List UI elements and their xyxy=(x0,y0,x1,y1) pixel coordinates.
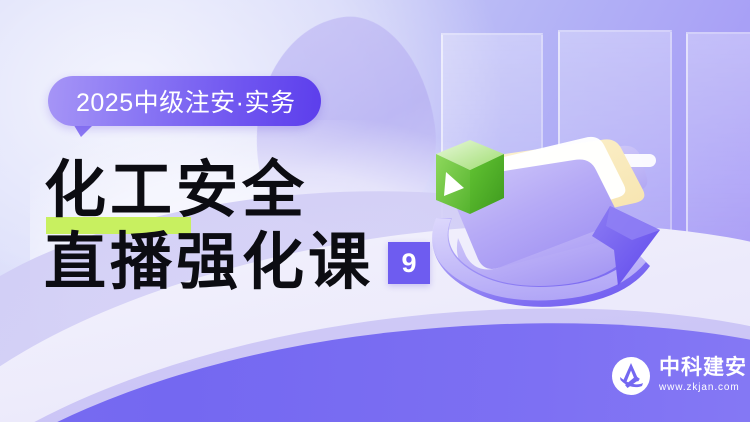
brand-logo-lockup[interactable]: 中科建安 www.zkjan.com xyxy=(611,356,747,396)
brand-name: 中科建安 xyxy=(659,357,747,379)
zkjan-circle-logo-icon xyxy=(611,356,651,396)
course-category-badge: 2025中级注安·实务 xyxy=(48,76,321,126)
brand-logo-text: 中科建安 www.zkjan.com xyxy=(659,357,747,395)
headline-line-1-wrapper: 化工安全 xyxy=(44,155,430,227)
episode-number-badge: 9 xyxy=(388,242,430,284)
headline-line-2: 直播强化课 xyxy=(44,227,374,299)
course-illustration xyxy=(418,110,718,360)
headline-block: 化工安全 直播强化课 9 xyxy=(44,155,430,299)
course-promo-banner: 2025中级注安·实务 化工安全 直播强化课 9 中科建安 www.zkjan.… xyxy=(0,0,750,422)
brand-url: www.zkjan.com xyxy=(659,381,747,395)
headline-line-2-wrapper: 直播强化课 9 xyxy=(44,227,430,299)
course-category-label: 2025中级注安·实务 xyxy=(76,83,295,119)
headline-line-1: 化工安全 xyxy=(44,157,308,225)
